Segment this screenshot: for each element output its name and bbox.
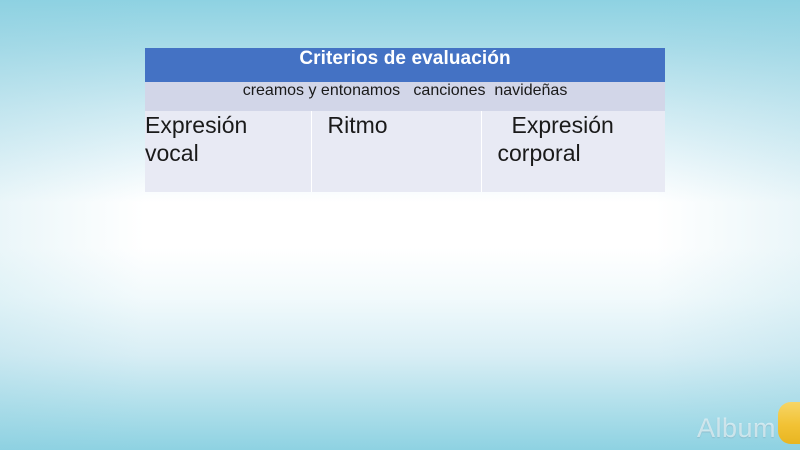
table-row-title: Criterios de evaluación [145,48,665,82]
watermark-badge-icon [778,402,800,444]
slide-canvas: Criterios de evaluación creamos y entona… [0,0,800,450]
table-row-criteria: Expresión vocal Ritmo Expresión corporal [145,111,665,192]
table-row-subtitle: creamos y entonamos canciones navideñas [145,82,665,111]
criteria-corporal-line1: Expresión [498,111,666,139]
criteria-vocal-line2: vocal [145,140,199,166]
criteria-table-title: Criterios de evaluación [145,48,665,82]
watermark-label: Album [697,415,776,444]
criteria-vocal-line1: Expresión [145,112,247,138]
watermark: Album [697,402,800,444]
criteria-table: Criterios de evaluación creamos y entona… [145,48,665,192]
criteria-cell-ritmo: Ritmo [311,111,481,192]
criteria-corporal-line2: corporal [498,140,581,166]
criteria-cell-vocal: Expresión vocal [145,111,311,192]
criteria-ritmo-line1: Ritmo [328,112,388,138]
criteria-table-subtitle: creamos y entonamos canciones navideñas [145,82,665,111]
criteria-cell-corporal: Expresión corporal [481,111,665,192]
